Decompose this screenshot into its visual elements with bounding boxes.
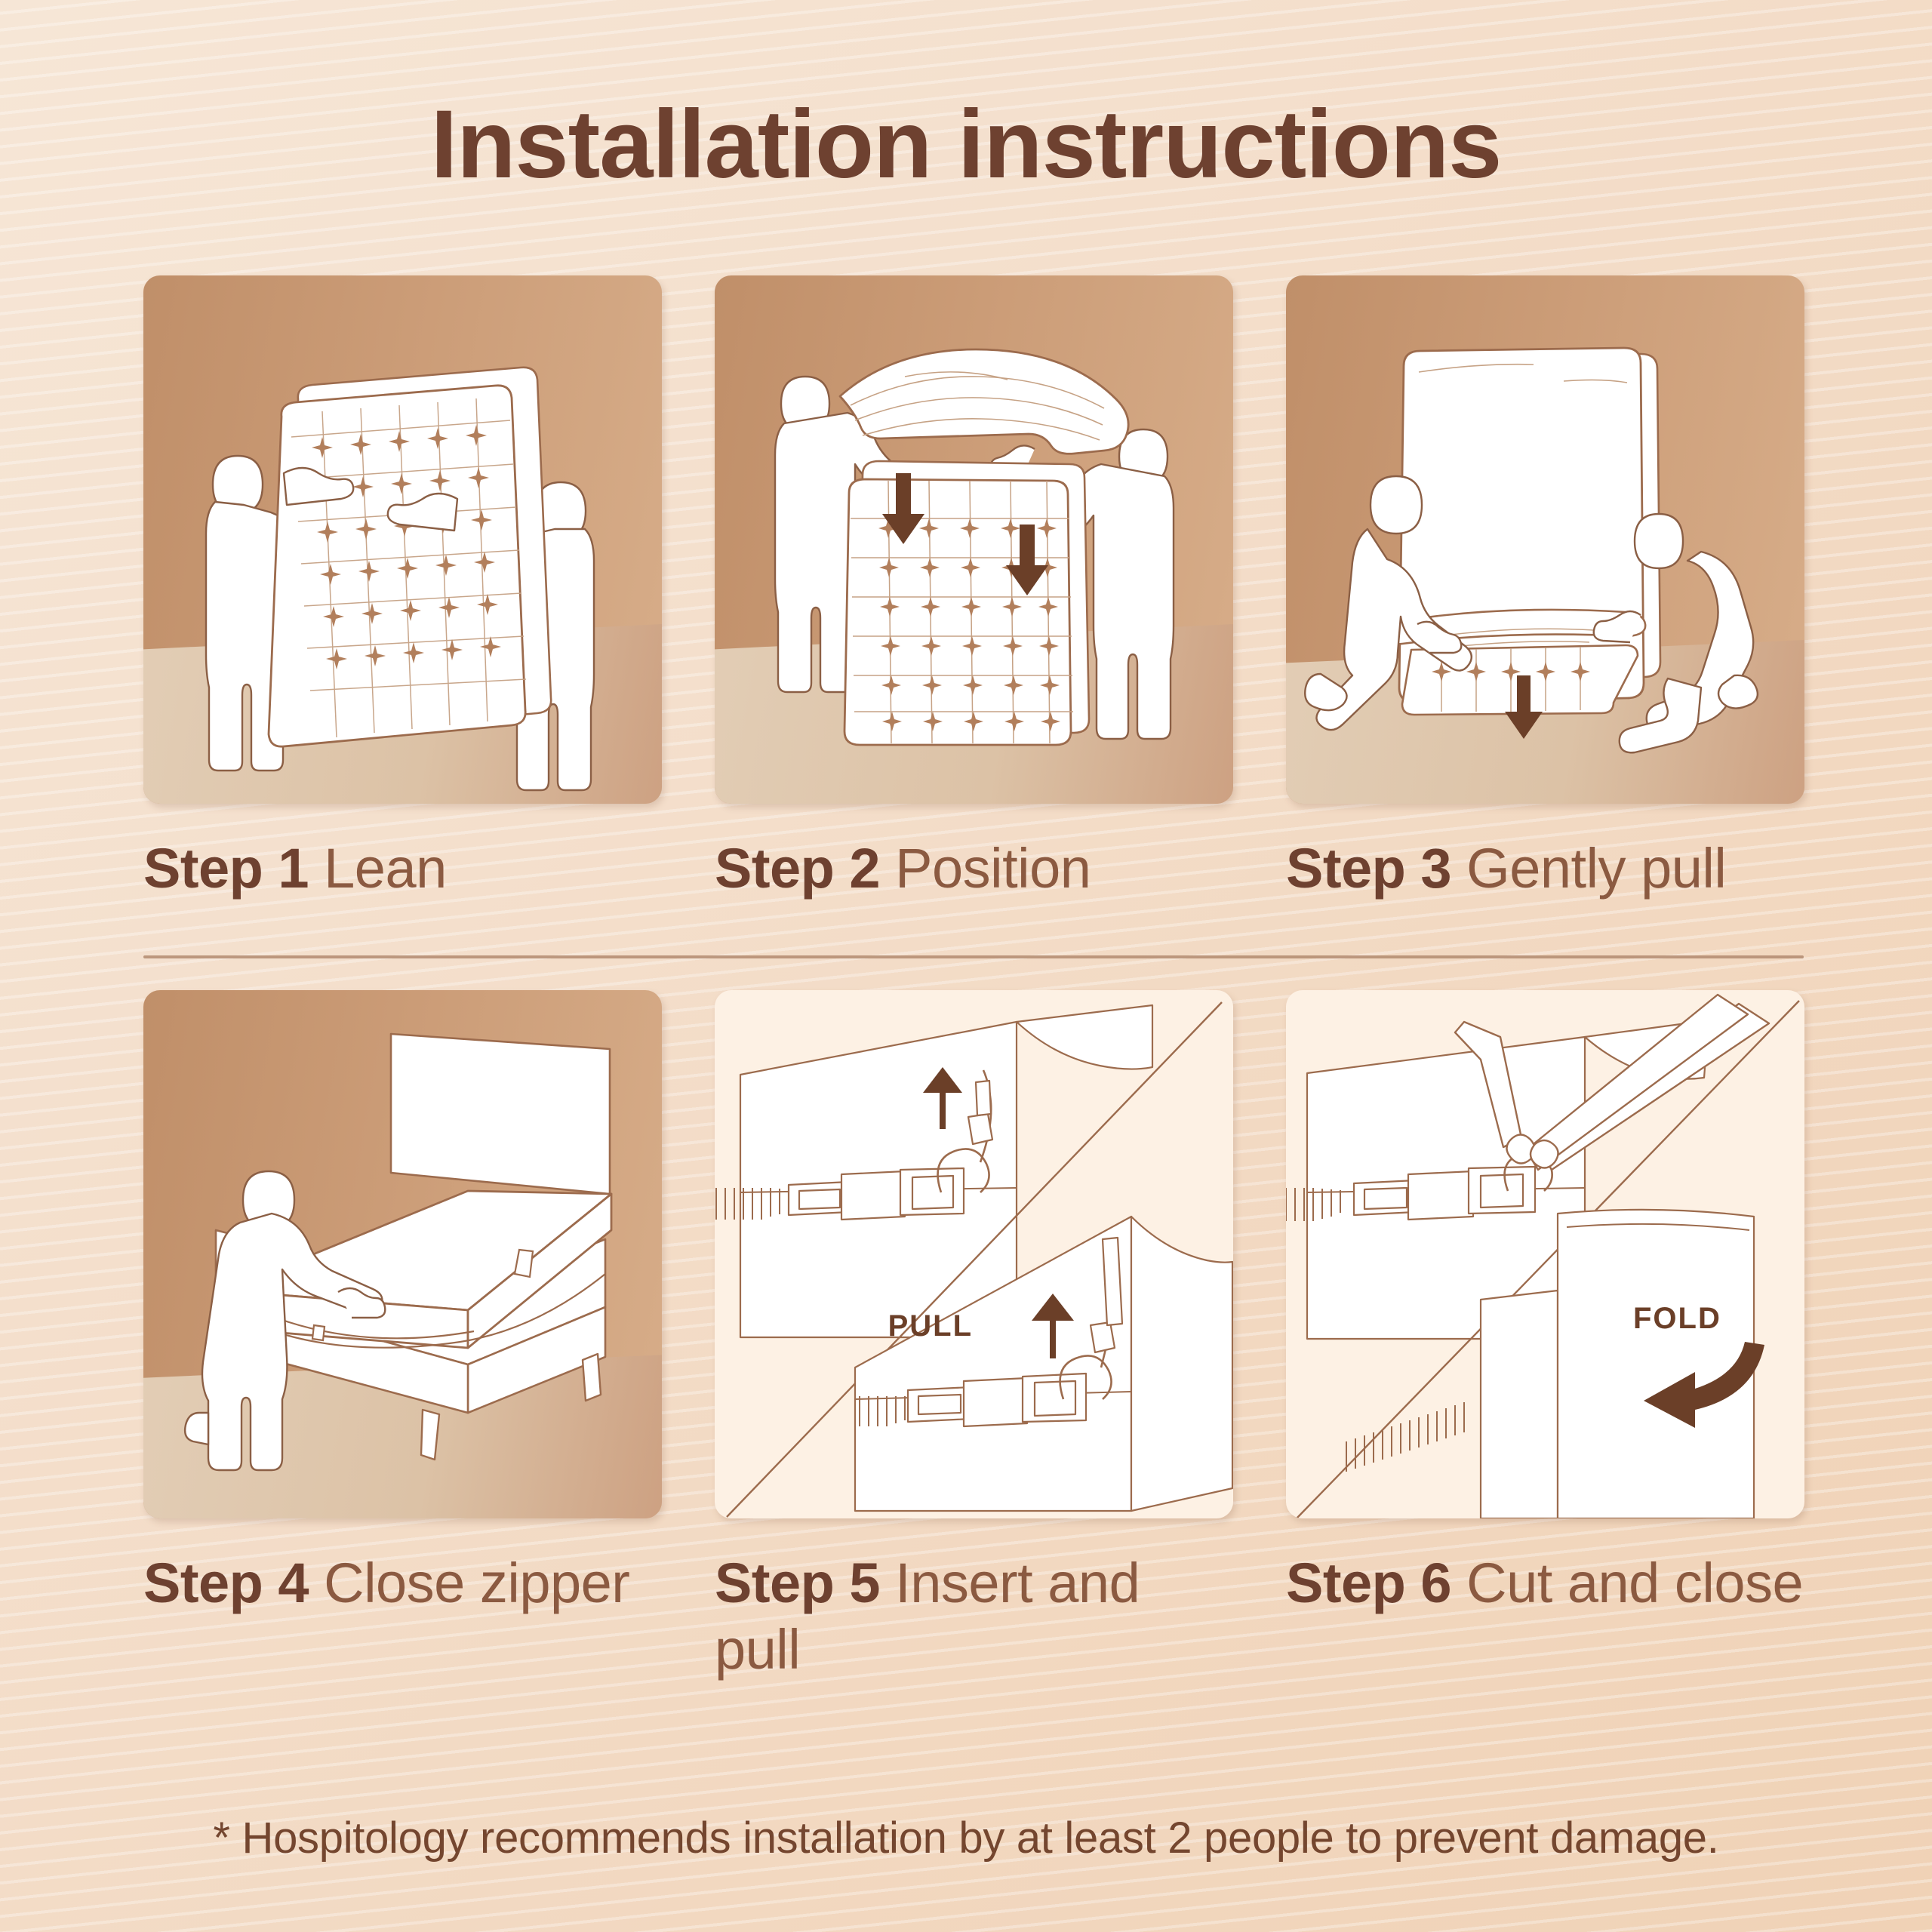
- row-divider: [143, 955, 1804, 958]
- step-2-caption: Step 2 Position: [715, 835, 1233, 901]
- step-1-illustration: [143, 275, 662, 804]
- step-6-cut-fold-detail: FOLD: [1286, 990, 1804, 1518]
- step-card-1: Step 1 Lean: [143, 275, 662, 901]
- step-4-bed: [143, 990, 662, 1518]
- step-6-number: Step 6: [1286, 1552, 1451, 1614]
- step-5-illustration: PULL: [715, 990, 1233, 1518]
- step-2-label: Position: [895, 837, 1091, 900]
- steps-row-1: Step 1 Lean: [143, 275, 1804, 901]
- pull-label: PULL: [888, 1309, 973, 1343]
- step-3-figures: [1286, 275, 1804, 804]
- step-3-label: Gently pull: [1466, 837, 1726, 900]
- steps-grid: Step 1 Lean: [143, 275, 1804, 1682]
- step-card-4: Step 4 Close zipper: [143, 990, 662, 1682]
- step-4-label: Close zipper: [324, 1552, 629, 1614]
- step-3-number: Step 3: [1286, 837, 1451, 900]
- page-title: Installation instructions: [0, 89, 1932, 200]
- step-1-caption: Step 1 Lean: [143, 835, 662, 901]
- step-4-caption: Step 4 Close zipper: [143, 1550, 662, 1616]
- step-2-figures: [715, 275, 1233, 804]
- step-4-number: Step 4: [143, 1552, 309, 1614]
- step-3-illustration: [1286, 275, 1804, 804]
- step-4-illustration: [143, 990, 662, 1518]
- step-card-5: PULL Step 5 Insert and pull: [715, 990, 1233, 1682]
- step-card-3: Step 3 Gently pull: [1286, 275, 1804, 901]
- step-card-2: Step 2 Position: [715, 275, 1233, 901]
- step-5-number: Step 5: [715, 1552, 880, 1614]
- step-2-number: Step 2: [715, 837, 880, 900]
- fold-label: FOLD: [1633, 1302, 1721, 1335]
- step-card-6: FOLD Step 6 Cut and close: [1286, 990, 1804, 1682]
- step-6-illustration: FOLD: [1286, 990, 1804, 1518]
- step-1-label: Lean: [324, 837, 447, 900]
- step-5-zipper-detail: PULL: [715, 990, 1233, 1518]
- steps-row-2: Step 4 Close zipper: [143, 990, 1804, 1682]
- step-1-number: Step 1: [143, 837, 309, 900]
- step-2-illustration: [715, 275, 1233, 804]
- step-5-caption: Step 5 Insert and pull: [715, 1550, 1233, 1682]
- step-6-label: Cut and close: [1466, 1552, 1803, 1614]
- step-6-caption: Step 6 Cut and close: [1286, 1550, 1804, 1616]
- step-1-figures: [143, 275, 662, 804]
- step-3-caption: Step 3 Gently pull: [1286, 835, 1804, 901]
- footnote: * Hospitology recommends installation by…: [0, 1813, 1932, 1863]
